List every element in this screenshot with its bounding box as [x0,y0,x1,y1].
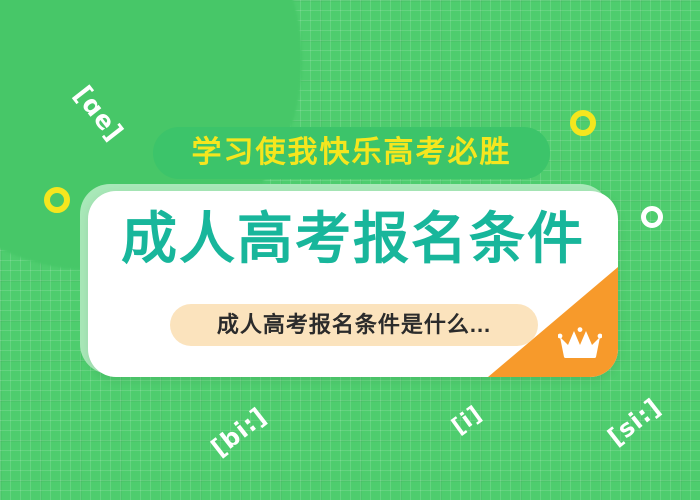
banner-pill: 学习使我快乐高考必胜 [153,127,550,179]
phonetic-bi-label: [bi:] [206,402,272,462]
decorative-ring-right [641,206,663,228]
banner-slogan-text: 学习使我快乐高考必胜 [192,138,512,168]
phonetic-si-label: [si:] [603,393,667,451]
phonetic-i-label: [i] [448,401,487,439]
decorative-ring-left [44,187,70,213]
subtitle-text: 成人高考报名条件是什么... [217,314,491,336]
decorative-ring-top [570,110,596,136]
crown-icon [558,327,602,361]
subtitle-pill: 成人高考报名条件是什么... [170,304,538,346]
main-card: 成人高考报名条件 成人高考报名条件是什么... [88,191,618,377]
page-title: 成人高考报名条件 [88,211,618,267]
poster-canvas: [ɑe] [bi:] [i] [si:] 学习使我快乐高考必胜 成人高考报名条件… [0,0,700,500]
